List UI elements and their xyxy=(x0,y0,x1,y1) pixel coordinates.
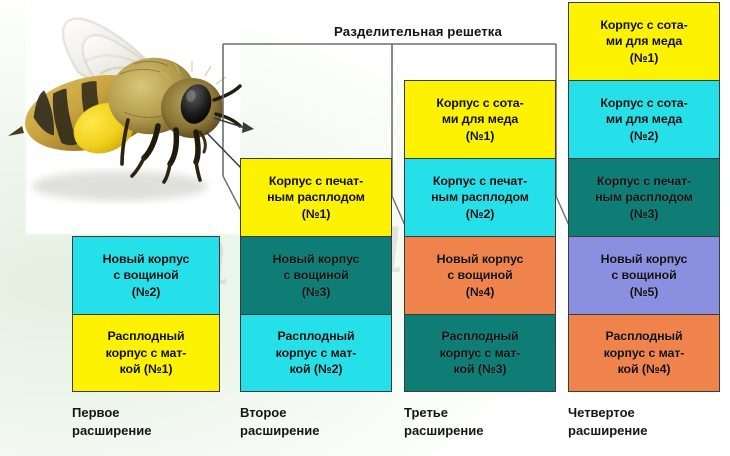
hive-box: Новый корпусс вощиной(№4) xyxy=(404,236,556,314)
hive-box-line: корпус с мат- xyxy=(276,345,357,362)
hive-box: Корпус с печат-ным расплодом(№1) xyxy=(240,158,392,236)
caption-line-2: расширение xyxy=(240,422,319,440)
hive-column-third-expansion: Корпус с сота-ми для меда(№1)Корпус с пе… xyxy=(404,80,556,392)
column-caption-second-expansion: Второерасширение xyxy=(240,404,319,440)
hive-box-line: ным расплодом xyxy=(595,189,693,206)
hive-box-line: Новый корпус xyxy=(601,251,688,268)
hive-box-line: ми для меда xyxy=(442,111,518,128)
hive-box: Расплодныйкорпус с мат-кой (№1) xyxy=(72,314,220,392)
hive-box: Расплодныйкорпус с мат-кой (№4) xyxy=(568,314,720,392)
caption-line-1: Второе xyxy=(240,404,319,422)
hive-box-line: кой (№1) xyxy=(120,361,173,378)
hive-box: Корпус с печат-ным расплодом(№2) xyxy=(404,158,556,236)
hive-box-line: Расплодный xyxy=(107,328,184,345)
hive-box-line: ми для меда xyxy=(606,33,682,50)
hive-box-line: Новый корпус xyxy=(437,251,524,268)
hive-box-line: Корпус с сота- xyxy=(600,95,687,112)
hive-box-line: с вощиной xyxy=(611,267,676,284)
hive-box-line: (№4) xyxy=(466,284,495,301)
queen-excluder-label: Разделительная решетка xyxy=(334,24,502,39)
hive-box-line: Корпус с печат- xyxy=(269,173,363,190)
hive-box-line: (№2) xyxy=(132,284,161,301)
hive-box: Новый корпусс вощиной(№5) xyxy=(568,236,720,314)
hive-box: Корпус с печат-ным расплодом(№3) xyxy=(568,158,720,236)
hive-box-line: Новый корпус xyxy=(103,251,190,268)
hive-box-line: корпус с мат- xyxy=(604,345,685,362)
honeybee-image xyxy=(0,0,250,240)
hive-box: Корпус с сота-ми для меда(№1) xyxy=(404,80,556,158)
hive-box-line: с вощиной xyxy=(283,267,348,284)
hive-column-second-expansion: Корпус с печат-ным расплодом(№1)Новый ко… xyxy=(240,158,392,392)
hive-box-line: корпус с мат- xyxy=(440,345,521,362)
hive-box-line: Корпус с печат- xyxy=(433,173,527,190)
hive-box-line: (№1) xyxy=(630,50,659,67)
caption-line-2: расширение xyxy=(404,422,483,440)
hive-box: Корпус с сота-ми для меда(№2) xyxy=(568,80,720,158)
caption-line-1: Первое xyxy=(72,404,151,422)
hive-box: Расплодныйкорпус с мат-кой (№2) xyxy=(240,314,392,392)
caption-line-1: Четвертое xyxy=(568,404,647,422)
hive-box-line: (№5) xyxy=(630,284,659,301)
hive-box: Корпус с сота-ми для меда(№1) xyxy=(568,2,720,80)
hive-box-line: кой (№4) xyxy=(618,361,671,378)
hive-box-line: корпус с мат- xyxy=(106,345,187,362)
hive-box-line: Корпус с сота- xyxy=(600,17,687,34)
hive-box: Новый корпусс вощиной(№2) xyxy=(72,236,220,314)
caption-line-1: Третье xyxy=(404,404,483,422)
hive-box: Новый корпусс вощиной(№3) xyxy=(240,236,392,314)
hive-box-line: (№1) xyxy=(466,128,495,145)
column-caption-third-expansion: Третьерасширение xyxy=(404,404,483,440)
diagram-canvas: mega xyxy=(0,0,730,456)
hive-box-line: Корпус с сота- xyxy=(436,95,523,112)
hive-box-line: (№1) xyxy=(302,206,331,223)
hive-column-fourth-expansion: Корпус с сота-ми для меда(№1)Корпус с со… xyxy=(568,2,720,392)
caption-line-2: расширение xyxy=(568,422,647,440)
hive-box-line: Корпус с печат- xyxy=(597,173,691,190)
caption-line-2: расширение xyxy=(72,422,151,440)
column-caption-first-expansion: Первоерасширение xyxy=(72,404,151,440)
column-caption-fourth-expansion: Четвертоерасширение xyxy=(568,404,647,440)
hive-box-line: Расплодный xyxy=(605,328,682,345)
hive-box: Расплодныйкорпус с мат-кой (№3) xyxy=(404,314,556,392)
hive-box-line: (№2) xyxy=(630,128,659,145)
hive-box-line: Расплодный xyxy=(277,328,354,345)
hive-box-line: кой (№3) xyxy=(454,361,507,378)
hive-box-line: ным расплодом xyxy=(431,189,529,206)
hive-column-first-expansion: Новый корпусс вощиной(№2)Расплодныйкорпу… xyxy=(72,236,220,392)
hive-box-line: (№3) xyxy=(302,284,331,301)
hive-box-line: ми для меда xyxy=(606,111,682,128)
hive-box-line: (№2) xyxy=(466,206,495,223)
hive-box-line: (№3) xyxy=(630,206,659,223)
hive-box-line: Расплодный xyxy=(441,328,518,345)
hive-box-line: кой (№2) xyxy=(290,361,343,378)
hive-box-line: Новый корпус xyxy=(273,251,360,268)
hive-box-line: с вощиной xyxy=(113,267,178,284)
hive-box-line: ным расплодом xyxy=(267,189,365,206)
hive-box-line: с вощиной xyxy=(447,267,512,284)
